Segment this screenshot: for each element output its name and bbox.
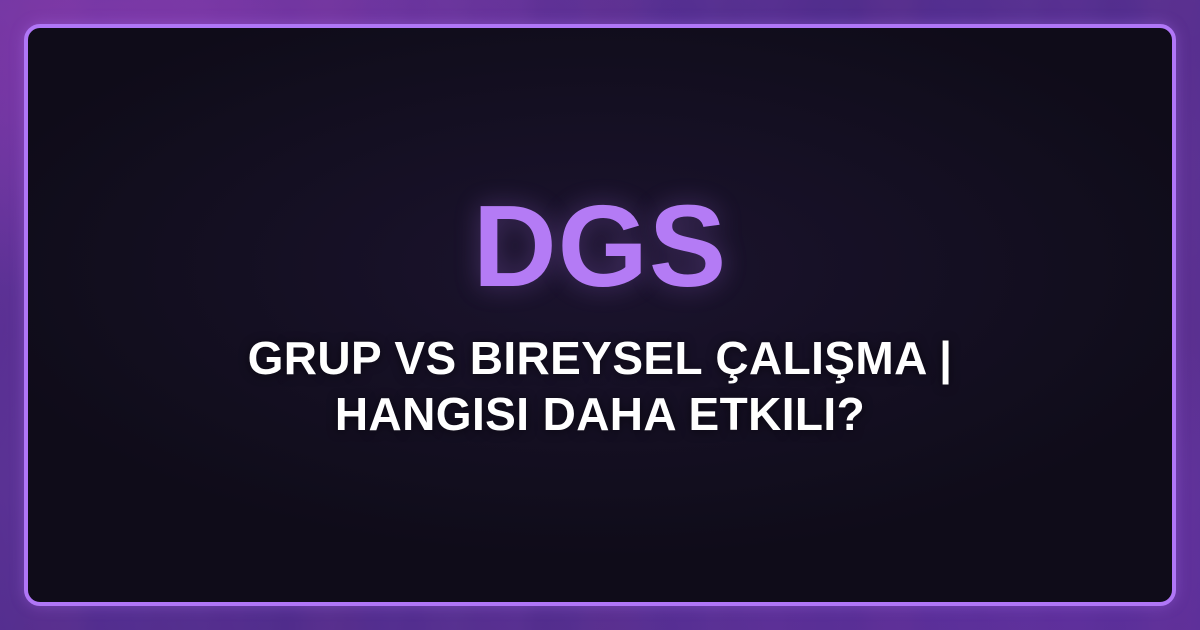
headline: GRUP VS BIREYSEL ÇALIŞMA | HANGISI DAHA … [248, 330, 953, 442]
exam-name-title: DGS [473, 188, 727, 304]
headline-line-1: GRUP VS BIREYSEL ÇALIŞMA | [248, 330, 953, 386]
content-card: DGS GRUP VS BIREYSEL ÇALIŞMA | HANGISI D… [24, 24, 1176, 606]
og-image-canvas: DGS GRUP VS BIREYSEL ÇALIŞMA | HANGISI D… [0, 0, 1200, 630]
text-block: DGS GRUP VS BIREYSEL ÇALIŞMA | HANGISI D… [28, 28, 1172, 602]
headline-line-2: HANGISI DAHA ETKILI? [248, 386, 953, 442]
